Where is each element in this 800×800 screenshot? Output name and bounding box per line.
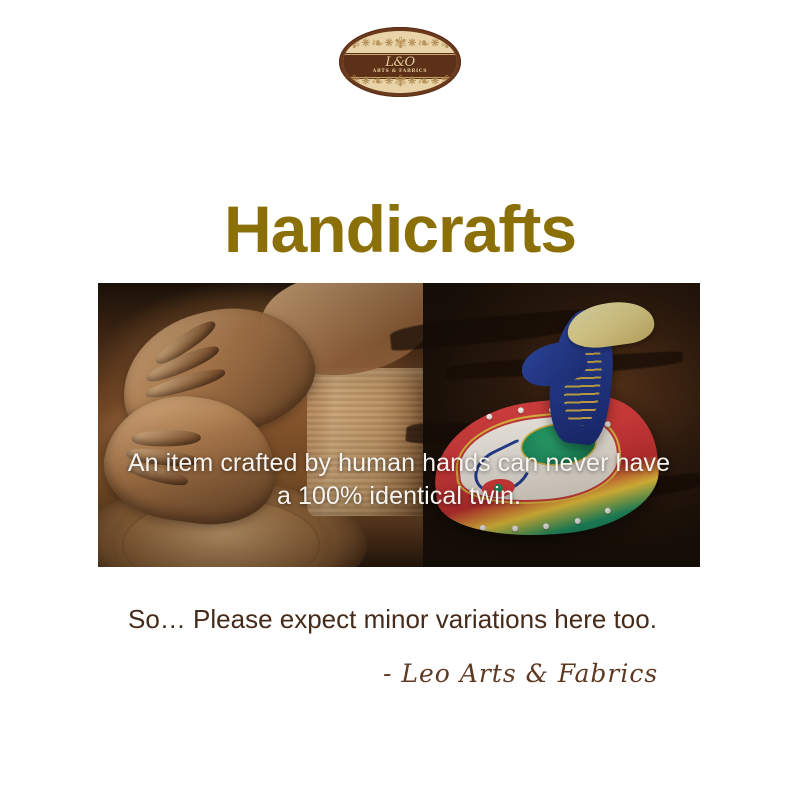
peacock-jewel-dot [480,525,487,532]
peacock-crest [564,298,656,353]
peacock-jewel-dot [460,423,467,430]
brand-logo[interactable]: ✾⁕❧⁕✾⁕❧⁕✾ ❧ ❧ L&O ARTS & FABRICS ✾⁕❧⁕✾⁕❧… [0,27,800,97]
banner-quote: An item crafted by human hands can never… [98,447,700,513]
brand-signature: - Leo Arts & Fabrics [383,659,658,689]
logo-monogram: L&O [385,57,414,69]
figurine-scene [423,283,700,567]
peacock-jewel-dot [543,523,550,530]
logo-flourish-bottom-icon: ✾⁕❧⁕✾⁕❧⁕✾ [343,70,457,92]
logo-oval-inner: ✾⁕❧⁕✾⁕❧⁕✾ ❧ ❧ L&O ARTS & FABRICS ✾⁕❧⁕✾⁕❧… [343,31,457,93]
banner-artwork [98,283,700,567]
logo-oval-frame: ✾⁕❧⁕✾⁕❧⁕✾ ❧ ❧ L&O ARTS & FABRICS ✾⁕❧⁕✾⁕❧… [339,27,461,97]
peacock-jewel-dot [574,517,581,524]
peacock-jewel-dot [512,525,519,532]
page-title: Handicrafts [0,193,800,265]
logo-flourish-top-icon: ✾⁕❧⁕✾⁕❧⁕✾ [343,32,457,54]
poster-canvas: ✾⁕❧⁕✾⁕❧⁕✾ ❧ ❧ L&O ARTS & FABRICS ✾⁕❧⁕✾⁕❧… [0,0,800,800]
peacock-jewel-dot [486,413,493,420]
banner-image: An item crafted by human hands can never… [98,283,700,567]
peacock-jewel-dot [517,407,524,414]
footer-message: So… Please expect minor variations here … [128,601,668,637]
finger [132,430,201,447]
